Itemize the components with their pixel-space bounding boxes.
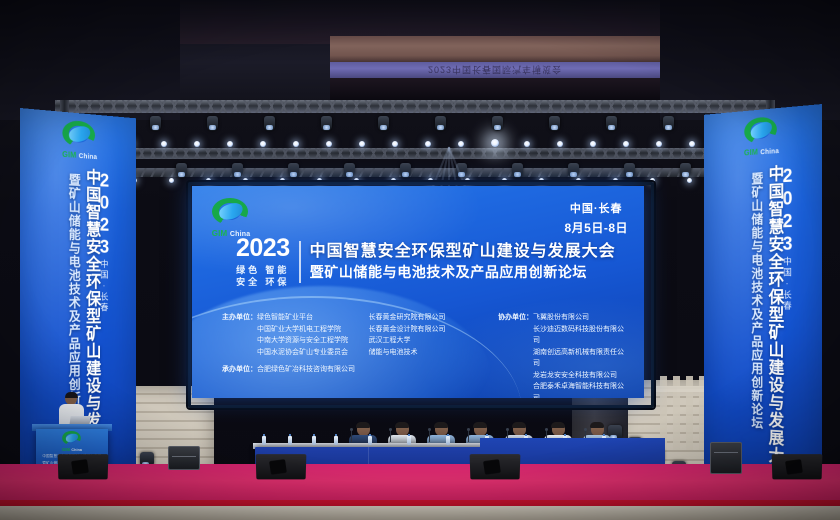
- event-year: 2023: [236, 236, 290, 261]
- logo-text-cn: China: [760, 148, 779, 156]
- host-value: 合肥绿色矿冶科技咨询有限公司: [257, 366, 355, 373]
- co-organizer-row: 长沙迪迈数码科技股份有限公司: [498, 324, 628, 347]
- upper-reflected-banner: 2023中国长春国际汽车博览会: [330, 62, 660, 78]
- right-banner-title-main: 中国智慧安全环保型矿山建设与发展大会: [767, 165, 783, 471]
- moving-head-light: [207, 116, 218, 131]
- co-organizer-item: 长沙迪迈数码科技股份有限公司: [533, 326, 624, 345]
- organizer-row: 长春黄金设计院有限公司: [369, 324, 476, 336]
- panelist-hair: [434, 422, 448, 428]
- logo-wordmark: GIM China: [60, 448, 84, 452]
- moving-head-light: [264, 116, 275, 131]
- main-truss: [55, 100, 775, 113]
- organizer-item: 中南大学资源与安全工程学院: [257, 337, 348, 344]
- road-case: [710, 442, 742, 474]
- moving-head-light: [150, 116, 161, 131]
- moving-head-light: [176, 163, 187, 178]
- water-bottle: [288, 436, 292, 445]
- logo-wordmark: GIM China: [59, 151, 101, 162]
- stage-lamp: [194, 141, 200, 147]
- panelist-hair: [590, 422, 604, 428]
- organizer-item: 长春黄金设计院有限公司: [369, 326, 446, 333]
- upper-banner-text: 2023中国长春国际汽车博览会: [428, 64, 562, 77]
- logo-text-cn: China: [71, 448, 82, 452]
- water-bottle: [262, 436, 266, 445]
- stage-monitor-speaker: [772, 454, 823, 479]
- event-title-row: 2023 绿色 智能 安全 环保 中国智慧安全环保型矿山建设与发展大会 暨矿山储…: [236, 236, 616, 288]
- table-microphone: [351, 430, 352, 442]
- stage-lamp: [161, 141, 167, 147]
- event-title-sub: 暨矿山储能与电池技术及产品应用创新论坛: [310, 264, 616, 282]
- organizer-item: 中国矿业大学机电工程学院: [257, 326, 341, 333]
- event-title-main: 中国智慧安全环保型矿山建设与发展大会: [310, 242, 616, 262]
- stage-lamp: [491, 139, 499, 147]
- gim-china-logo: GIM China: [208, 198, 254, 238]
- stage-lamp: [689, 141, 695, 147]
- event-year-block: 2023 绿色 智能 安全 环保: [236, 236, 290, 288]
- panelist-hair: [551, 422, 565, 428]
- moving-head-light: [568, 163, 579, 178]
- organizer-item: 中国水泥协会矿山专业委员会: [257, 349, 348, 356]
- water-bottle: [312, 436, 316, 445]
- stage-lamp: [425, 141, 431, 147]
- logo-text-en: GIM: [62, 150, 76, 160]
- co-organizer-item: 合肥泰禾卓海智能科技有限公司: [533, 383, 624, 398]
- road-case: [168, 446, 200, 470]
- stage-lamp: [557, 141, 563, 147]
- moving-head-light: [288, 163, 299, 178]
- logo-wordmark: GIM China: [741, 147, 783, 158]
- stage-lamp: [293, 141, 299, 147]
- moving-head-light: [435, 116, 446, 131]
- organizer-row: 储能与电池技术: [369, 347, 476, 359]
- upper-wall-panel: [330, 36, 660, 64]
- conference-stage-photo: 2023中国长春国际汽车博览会 GIM China 2023 中国·长春 中国智…: [0, 0, 840, 520]
- moving-head-light: [624, 163, 635, 178]
- slogan-line-2: 安全 环保: [236, 276, 290, 288]
- host-label: 承办单位：: [222, 366, 257, 373]
- panelist-hair: [395, 422, 409, 428]
- organizer-row: 主办单位：绿色智能矿业平台: [222, 312, 369, 324]
- co-organizer-item: 湖南创远高新机械有限责任公司: [533, 349, 624, 368]
- logo-text-cn: China: [79, 153, 97, 161]
- stage-lamp: [260, 141, 266, 147]
- lower-truss: [95, 168, 735, 177]
- event-location-block: 中国·长春 8月5日-8日: [564, 200, 628, 236]
- right-banner-title-sub: 暨矿山储能与电池技术及产品应用创新论坛: [751, 172, 763, 467]
- stage-lamp: [687, 178, 692, 183]
- panelist-hair: [512, 422, 526, 428]
- organizer-item: 绿色智能矿业平台: [257, 314, 313, 321]
- stage-lamp: [359, 141, 365, 147]
- moving-head-light: [606, 116, 617, 131]
- co-organizer-row: 湖南创远高新机械有限责任公司: [498, 347, 628, 370]
- table-microphone: [390, 430, 391, 442]
- stage-lamp: [590, 141, 596, 147]
- event-title-block: 中国智慧安全环保型矿山建设与发展大会 暨矿山储能与电池技术及产品应用创新论坛: [310, 242, 616, 282]
- water-bottle: [407, 436, 411, 445]
- organizer-row: 长春黄金研究院有限公司: [369, 312, 476, 324]
- stage-lamp: [656, 141, 662, 147]
- host-row: 承办单位：合肥绿色矿冶科技咨询有限公司: [222, 364, 355, 375]
- upper-dark-gap: [330, 78, 660, 100]
- co-organizer-row: 龙岩龙安安全科技有限公司: [498, 370, 628, 382]
- stage-lamp: [227, 141, 233, 147]
- moving-head-light: [344, 163, 355, 178]
- stage-lamp: [169, 178, 174, 183]
- co-organizer-column: 协办单位：飞翼股份有限公司 长沙迪迈数码科技股份有限公司 湖南创远高新机械有限责…: [498, 312, 628, 398]
- organizer-label: 主办单位：: [222, 314, 257, 321]
- stage-monitor-speaker: [470, 454, 521, 479]
- moving-head-light: [378, 116, 389, 131]
- organizer-item: 长春黄金研究院有限公司: [369, 314, 446, 321]
- event-city: 中国·长春: [564, 200, 628, 216]
- front-step: [0, 506, 840, 520]
- moving-head-light: [400, 163, 411, 178]
- stage-monitor-speaker: [58, 454, 109, 479]
- gim-china-logo: GIM China: [59, 119, 101, 161]
- moving-head-light: [663, 116, 674, 131]
- logo-text-en: GIM: [744, 148, 758, 158]
- organizer-row: 中国水泥协会矿山专业委员会: [222, 347, 369, 359]
- mid-truss: [55, 148, 775, 159]
- stage-lamp: [458, 141, 464, 147]
- gim-china-logo: GIM China: [60, 431, 84, 452]
- organizer-row: 武汉工程大学: [369, 335, 476, 347]
- co-organizer-row: 协办单位：飞翼股份有限公司: [498, 312, 628, 324]
- main-led-screen: GIM China 中国·长春 8月5日-8日 2023 绿色 智能 安全 环保…: [192, 186, 644, 398]
- organizer-section: 主办单位：绿色智能矿业平台 中国矿业大学机电工程学院 中南大学资源与安全工程学院…: [222, 312, 628, 398]
- stage-lamp: [524, 141, 530, 147]
- organizer-item: 武汉工程大学: [369, 337, 411, 344]
- organizer-column-1: 主办单位：绿色智能矿业平台 中国矿业大学机电工程学院 中南大学资源与安全工程学院…: [222, 312, 369, 398]
- event-slogan: 绿色 智能 安全 环保: [236, 264, 290, 288]
- water-bottle: [334, 436, 338, 445]
- panelist-hair: [473, 422, 487, 428]
- organizer-row: 中国矿业大学机电工程学院: [222, 324, 369, 336]
- organizer-item: 储能与电池技术: [369, 349, 418, 356]
- moving-head-light: [492, 116, 503, 131]
- gim-china-logo: GIM China: [741, 115, 783, 157]
- co-organizer-item: 飞翼股份有限公司: [533, 314, 589, 321]
- organizer-column-2: 长春黄金研究院有限公司 长春黄金设计院有限公司 武汉工程大学 储能与电池技术: [369, 312, 476, 398]
- water-bottle: [446, 436, 450, 445]
- slogan-line-1: 绿色 智能: [236, 264, 290, 276]
- co-organizer-item: 龙岩龙安安全科技有限公司: [533, 372, 617, 379]
- moving-head-light: [512, 163, 523, 178]
- moving-head-light: [680, 163, 691, 178]
- right-led-banner: GIM China 2023 中国·长春 中国智慧安全环保型矿山建设与发展大会 …: [704, 104, 822, 488]
- moving-head-light: [232, 163, 243, 178]
- water-bottle: [368, 436, 372, 445]
- moving-head-light: [549, 116, 560, 131]
- table-microphone: [429, 430, 430, 442]
- stage-lamp: [326, 141, 332, 147]
- stage-lamp: [623, 141, 629, 147]
- logo-text-en: GIM: [62, 447, 70, 452]
- logo-text-en: GIM: [212, 229, 228, 238]
- co-organizer-label: 协办单位：: [498, 314, 533, 321]
- table-microphone: [468, 430, 469, 442]
- stage-monitor-speaker: [256, 454, 307, 479]
- speaker-hair: [65, 392, 78, 398]
- stage-lamp: [392, 141, 398, 147]
- event-date: 8月5日-8日: [564, 219, 628, 236]
- title-divider: [299, 241, 301, 283]
- organizer-row: 中南大学资源与安全工程学院: [222, 335, 369, 347]
- moving-head-light: [321, 116, 332, 131]
- co-organizer-row: 合肥泰禾卓海智能科技有限公司: [498, 381, 628, 398]
- panelist-hair: [356, 422, 370, 428]
